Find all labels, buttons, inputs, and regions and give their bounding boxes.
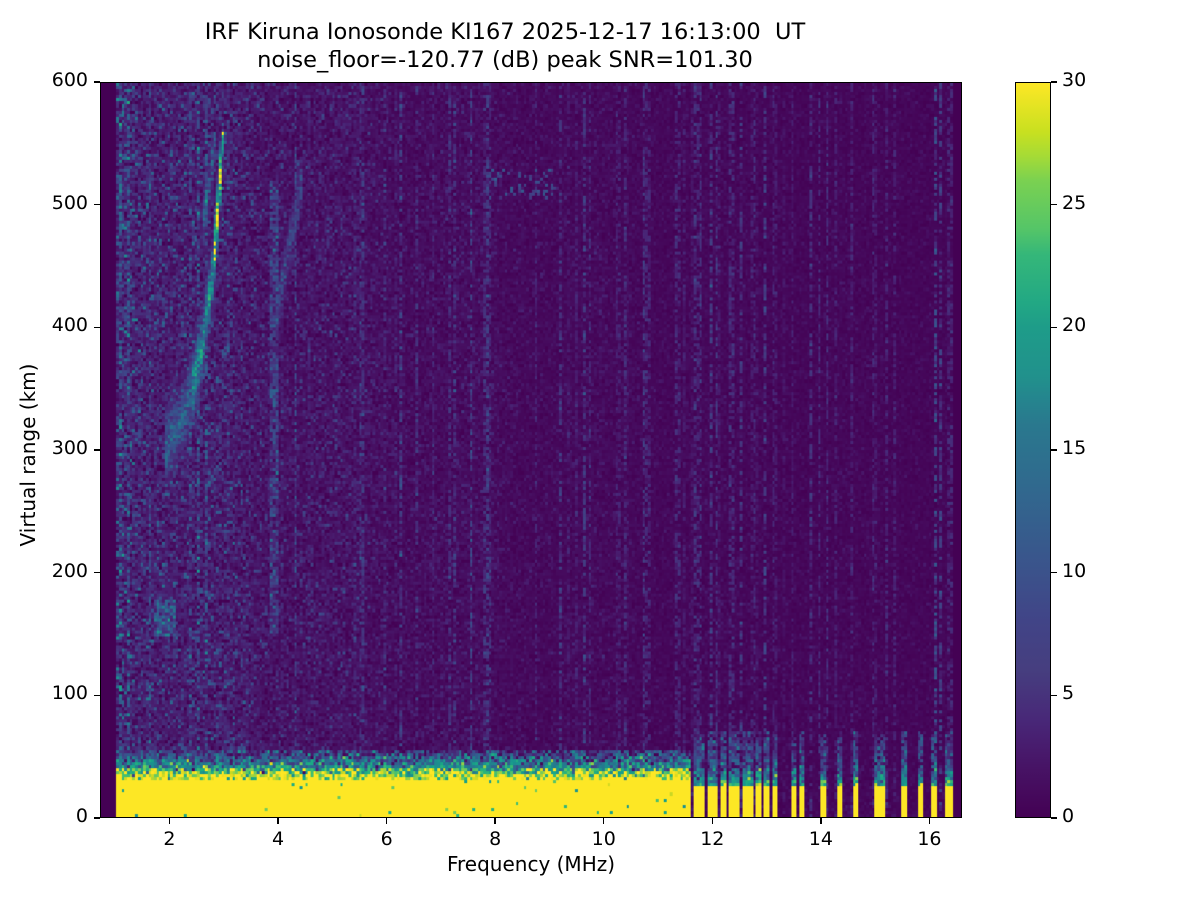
x-tick-label: 4 [238, 828, 318, 850]
x-tick-label: 10 [564, 828, 644, 850]
y-axis-label: Virtual range (km) [16, 87, 40, 823]
colorbar-tick-label: 0 [1062, 805, 1074, 827]
ionogram-plot-area [100, 82, 962, 818]
y-tick-mark [94, 817, 100, 818]
x-tick-label: 2 [129, 828, 209, 850]
x-tick-label: 8 [455, 828, 535, 850]
x-tick-mark [277, 818, 278, 824]
y-tick-mark [94, 572, 100, 573]
colorbar-tick-mark [1051, 81, 1057, 82]
x-tick-mark [386, 818, 387, 824]
colorbar-tick-label: 25 [1062, 192, 1086, 214]
x-tick-mark [820, 818, 821, 824]
colorbar-tick-mark [1051, 327, 1057, 328]
colorbar-tick-label: 15 [1062, 437, 1086, 459]
colorbar [1015, 82, 1051, 818]
y-tick-mark [94, 449, 100, 450]
x-tick-label: 6 [347, 828, 427, 850]
colorbar-tick-label: 5 [1062, 682, 1074, 704]
figure-title: IRF Kiruna Ionosonde KI167 2025-12-17 16… [0, 18, 1010, 74]
x-tick-label: 14 [781, 828, 861, 850]
colorbar-tick-mark [1051, 817, 1057, 818]
x-tick-label: 16 [889, 828, 969, 850]
x-tick-mark [603, 818, 604, 824]
colorbar-tick-label: 10 [1062, 560, 1086, 582]
y-tick-mark [94, 695, 100, 696]
title-line-2: noise_floor=-120.77 (dB) peak SNR=101.30 [0, 46, 1010, 74]
x-tick-mark [494, 818, 495, 824]
x-tick-label: 12 [672, 828, 752, 850]
ionogram-figure: IRF Kiruna Ionosonde KI167 2025-12-17 16… [0, 0, 1200, 900]
colorbar-tick-mark [1051, 695, 1057, 696]
x-axis-label: Frequency (MHz) [100, 852, 962, 876]
colorbar-tick-label: 20 [1062, 314, 1086, 336]
y-tick-mark [94, 204, 100, 205]
x-tick-mark [712, 818, 713, 824]
colorbar-tick-mark [1051, 572, 1057, 573]
title-line-1: IRF Kiruna Ionosonde KI167 2025-12-17 16… [0, 18, 1010, 46]
colorbar-tick-label: 30 [1062, 69, 1086, 91]
x-tick-mark [929, 818, 930, 824]
y-tick-mark [94, 327, 100, 328]
y-tick-mark [94, 81, 100, 82]
ionogram-heatmap [101, 83, 961, 817]
x-tick-mark [169, 818, 170, 824]
colorbar-tick-mark [1051, 204, 1057, 205]
colorbar-tick-mark [1051, 449, 1057, 450]
